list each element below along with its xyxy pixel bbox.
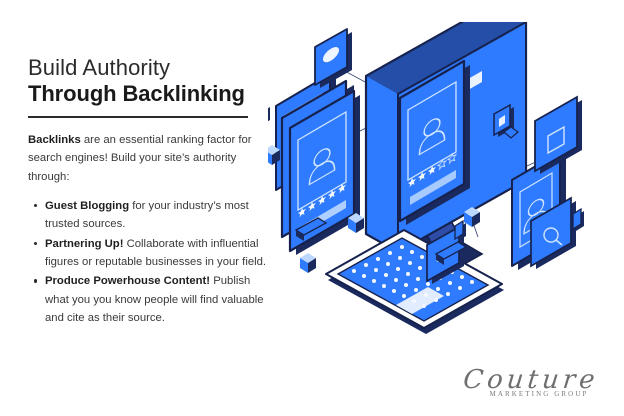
intro-bold-lead: Backlinks [28, 134, 81, 146]
logo-script-text: Couture [455, 367, 608, 393]
list-item-bold: Partnering Up! [45, 238, 123, 250]
list-item-bold: Guest Blogging [45, 200, 129, 212]
page-title-line2: Through Backlinking [28, 81, 273, 107]
page-title-line1: Build Authority [28, 55, 273, 81]
list-item: Partnering Up! Collaborate with influent… [45, 235, 273, 272]
list-item: Guest Blogging for your industry’s most … [45, 197, 273, 234]
list-item: Produce Powerhouse Content! Publish what… [45, 272, 273, 327]
text-column: Build Authority Through Backlinking Back… [28, 55, 273, 328]
list-item-bold: Produce Powerhouse Content! [45, 275, 210, 287]
intro-paragraph: Backlinks are an essential ranking facto… [28, 131, 268, 186]
tips-list: Guest Blogging for your industry’s most … [28, 197, 273, 327]
hero-illustration [268, 22, 618, 352]
title-divider [28, 116, 248, 118]
keyboard [326, 230, 504, 334]
brand-logo: Couture MARKETING GROUP [456, 367, 606, 398]
slide-canvas: Build Authority Through Backlinking Back… [0, 0, 624, 416]
